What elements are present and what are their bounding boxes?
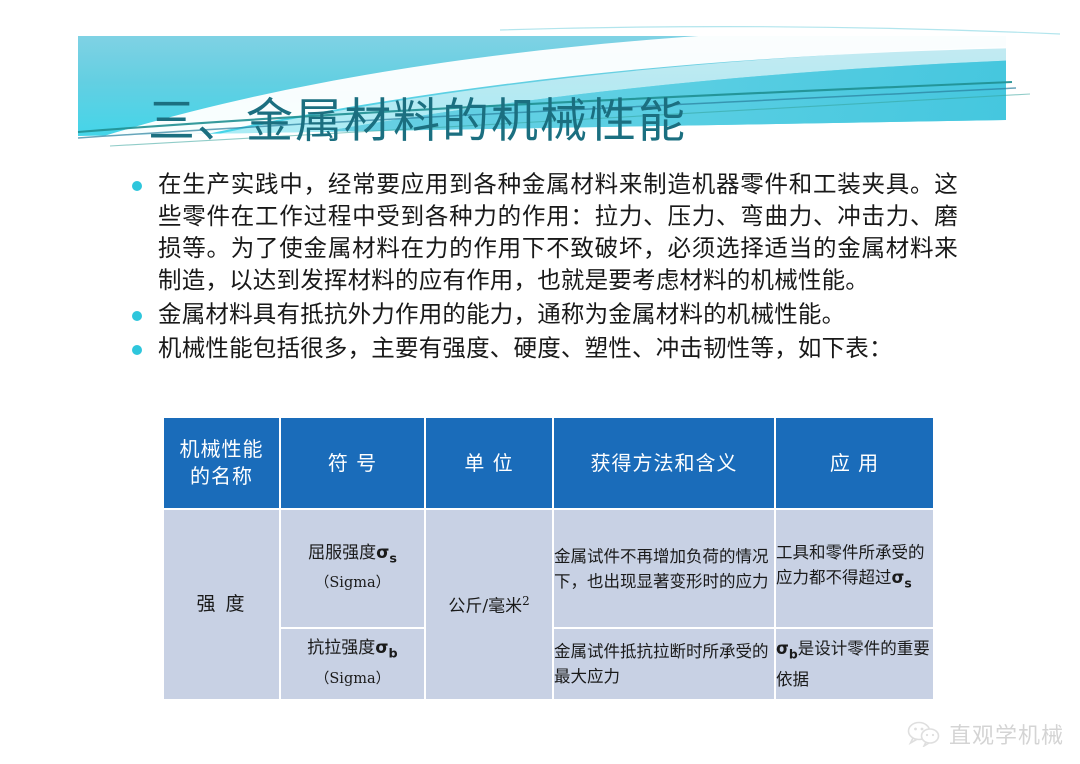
list-item: 机械性能包括很多，主要有强度、硬度、塑性、冲击韧性等，如下表： <box>128 332 958 364</box>
bullet-dot-icon <box>132 345 142 355</box>
table-header-cell-method: 获得方法和含义 <box>553 417 775 509</box>
header-line-2: 的名称 <box>164 463 279 490</box>
table-header-cell-name: 机械性能 的名称 <box>163 417 280 509</box>
symbol-sub: （Sigma） <box>281 667 424 692</box>
bullet-dot-icon <box>132 181 142 191</box>
cell-symbol-yield: 屈服强度σs （Sigma） <box>280 509 425 628</box>
table-header-cell-symbol: 符 号 <box>280 417 425 509</box>
list-item: 金属材料具有抵抗外力作用的能力，通称为金属材料的机械性能。 <box>128 298 958 330</box>
cell-method-tensile: 金属试件抵抗拉断时所承受的最大应力 <box>553 628 775 700</box>
watermark-text: 直观学机械 <box>949 718 1064 750</box>
bullet-list: 在生产实践中，经常要应用到各种金属材料来制造机器零件和工装夹具。这些零件在工作过… <box>128 168 958 366</box>
table-header-cell-application: 应 用 <box>775 417 934 509</box>
wechat-icon <box>907 721 941 747</box>
mechanical-properties-table: 机械性能 的名称 符 号 单 位 获得方法和含义 应 用 强 度 屈服强度σs … <box>162 416 935 701</box>
presentation-slide: 三、金属材料的机械性能 在生产实践中，经常要应用到各种金属材料来制造机器零件和工… <box>0 0 1080 764</box>
table-row: 强 度 屈服强度σs （Sigma） 公斤/毫米2 金属试件不再增加负荷的情况下… <box>163 509 934 628</box>
bullet-text: 机械性能包括很多，主要有强度、硬度、塑性、冲击韧性等，如下表： <box>158 332 958 364</box>
list-item: 在生产实践中，经常要应用到各种金属材料来制造机器零件和工装夹具。这些零件在工作过… <box>128 168 958 296</box>
cell-property-name: 强 度 <box>163 509 280 700</box>
page-title: 三、金属材料的机械性能 <box>148 96 908 149</box>
bullet-text: 金属材料具有抵抗外力作用的能力，通称为金属材料的机械性能。 <box>158 298 958 330</box>
table-header-row: 机械性能 的名称 符 号 单 位 获得方法和含义 应 用 <box>163 417 934 509</box>
bullet-text: 在生产实践中，经常要应用到各种金属材料来制造机器零件和工装夹具。这些零件在工作过… <box>158 168 958 296</box>
cell-application-tensile: σb是设计零件的重要依据 <box>775 628 934 700</box>
bullet-dot-icon <box>132 311 142 321</box>
cell-application-yield: 工具和零件所承受的应力都不得超过σs <box>775 509 934 628</box>
symbol-main: 屈服强度σs <box>281 541 424 571</box>
symbol-sub: （Sigma） <box>281 571 424 596</box>
cell-method-yield: 金属试件不再增加负荷的情况下，也出现显著变形时的应力 <box>553 509 775 628</box>
cell-unit: 公斤/毫米2 <box>425 509 553 700</box>
header-line-1: 机械性能 <box>164 436 279 463</box>
table-header-cell-unit: 单 位 <box>425 417 553 509</box>
watermark: 直观学机械 <box>907 718 1064 750</box>
cell-symbol-tensile: 抗拉强度σb （Sigma） <box>280 628 425 700</box>
symbol-main: 抗拉强度σb <box>281 636 424 666</box>
